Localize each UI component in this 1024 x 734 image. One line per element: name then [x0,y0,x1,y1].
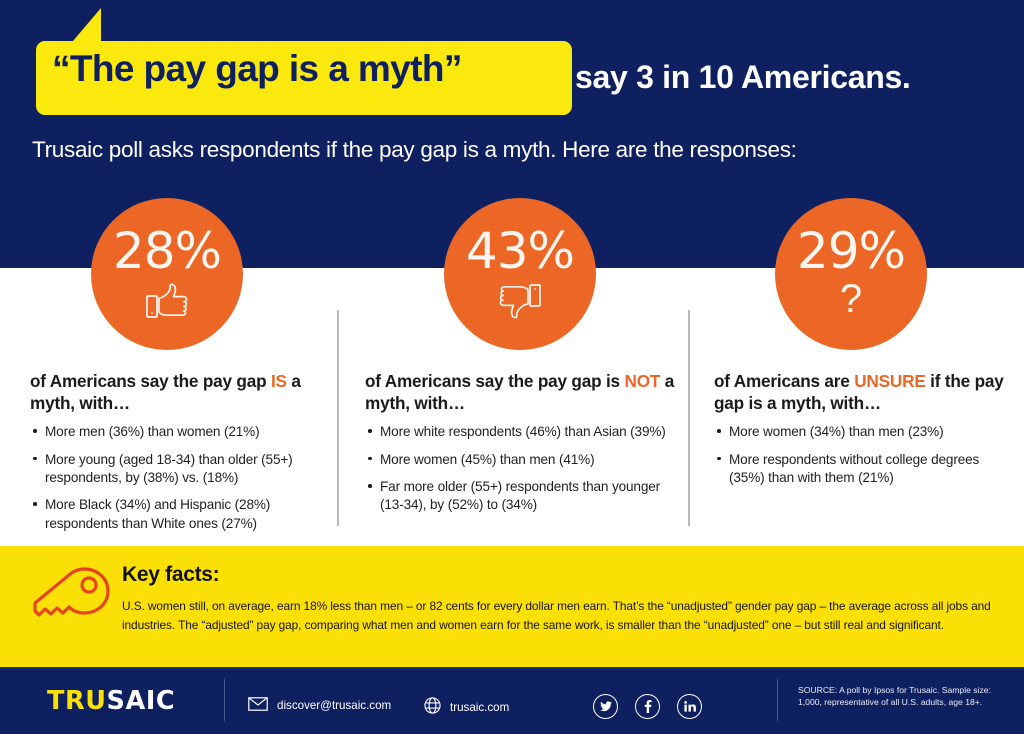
footer-divider-2 [777,679,778,721]
footer-website-label: trusaic.com [450,701,509,714]
key-icon [32,565,112,632]
stat-heading-1: of Americans say the pay gap IS a myth, … [30,370,326,414]
headline-tail: say 3 in 10 Americans. [575,59,911,96]
stat-circle-3: 29% ? [775,198,927,350]
headline-quote: “The pay gap is a myth” [52,50,462,87]
column-divider-2 [688,310,690,526]
thumbs-up-icon [145,283,189,324]
envelope-icon [248,697,268,714]
footer-divider-1 [224,679,225,721]
thumbs-down-icon [498,283,542,324]
stat-heading-2-highlight: NOT [624,371,660,391]
subheadline: Trusaic poll asks respondents if the pay… [32,137,797,163]
footer-email-label: discover@trusaic.com [277,699,391,712]
key-facts-title: Key facts: [122,563,219,587]
list-item: More respondents without college degrees… [729,451,1004,488]
stat-value-3: 29% [797,226,905,276]
stat-circle-2: 43% [444,198,596,350]
stat-value-2: 43% [466,226,574,276]
stat-heading-3: of Americans are UNSURE if the pay gap i… [714,370,1004,414]
column-divider-1 [337,310,339,526]
stat-heading-3-pre: of Americans are [714,371,854,391]
list-item: Far more older (55+) respondents than yo… [380,478,675,515]
linkedin-icon[interactable] [677,694,702,719]
list-item: More white respondents (46%) than Asian … [380,423,675,441]
footer-rule [0,667,1024,669]
list-item: More men (36%) than women (21%) [45,423,326,441]
stat-bullets-2: More white respondents (46%) than Asian … [365,423,675,515]
stat-heading-2: of Americans say the pay gap is NOT a my… [365,370,675,414]
logo-saic: SAIC [107,686,176,716]
stat-column-1: of Americans say the pay gap IS a myth, … [30,370,326,542]
globe-icon [424,697,441,717]
stat-heading-2-pre: of Americans say the pay gap is [365,371,624,391]
key-facts-body: U.S. women still, on average, earn 18% l… [122,597,1006,636]
stat-bullets-1: More men (36%) than women (21%) More you… [30,423,326,533]
stat-bullets-3: More women (34%) than men (23%) More res… [714,423,1004,487]
stat-heading-1-highlight: IS [271,371,287,391]
stat-heading-3-highlight: UNSURE [854,371,925,391]
stat-column-3: of Americans are UNSURE if the pay gap i… [714,370,1004,496]
footer-website[interactable]: trusaic.com [424,697,509,717]
stat-heading-1-pre: of Americans say the pay gap [30,371,271,391]
question-mark-icon: ? [840,279,862,319]
infographic-root: “The pay gap is a myth” say 3 in 10 Amer… [0,0,1024,734]
logo-tru: TRU [47,686,107,716]
list-item: More women (45%) than men (41%) [380,451,675,469]
stat-circle-1: 28% [91,198,243,350]
social-links [593,694,702,719]
footer-email[interactable]: discover@trusaic.com [248,697,391,714]
list-item: More Black (34%) and Hispanic (28%) resp… [45,496,326,533]
brand-logo[interactable]: TRUSAIC [47,686,175,716]
source-note: SOURCE: A poll by Ipsos for Trusaic. Sam… [798,684,1013,708]
list-item: More young (aged 18-34) than older (55+)… [45,451,326,488]
list-item: More women (34%) than men (23%) [729,423,1004,441]
twitter-icon[interactable] [593,694,618,719]
facebook-icon[interactable] [635,694,660,719]
stat-column-2: of Americans say the pay gap is NOT a my… [365,370,675,524]
stat-value-1: 28% [113,226,221,276]
